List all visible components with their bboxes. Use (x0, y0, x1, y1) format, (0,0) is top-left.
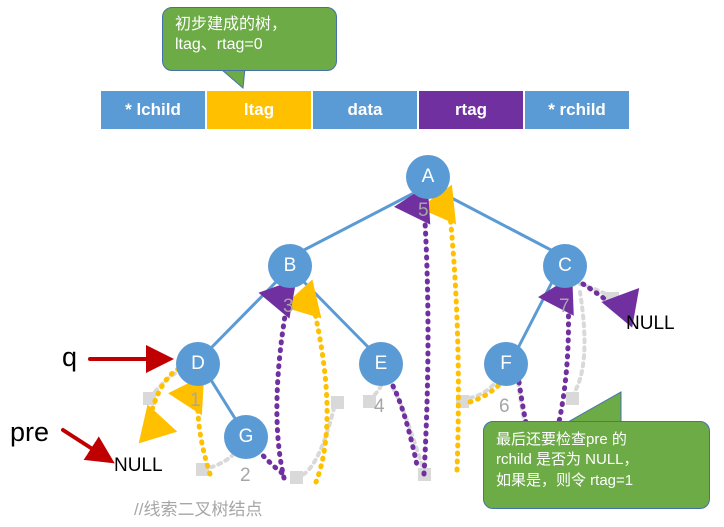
top-callout-tail (222, 68, 245, 88)
struct-cell-ltag: ltag (207, 91, 311, 129)
pre-pointer-arrow (63, 430, 108, 459)
step-number-1: 1 (190, 390, 201, 412)
callout-top: 初步建成的树， ltag、rtag=0 (162, 7, 337, 71)
tree-node-a: A (406, 155, 450, 199)
thread-g-right-to-b (277, 298, 288, 478)
step-number-6: 6 (499, 396, 510, 418)
callout-bottom-line1: 最后还要检查pre 的 (496, 430, 699, 450)
source-comment-label: //线索二叉树结点 (134, 495, 262, 520)
q-pointer-label: q (62, 342, 77, 373)
diagram-canvas: * lchild ltag data rtag * rchild 初步建成的树，… (0, 0, 724, 527)
null-label-left: NULL (114, 455, 163, 477)
callout-bottom: 最后还要检查pre 的 rchild 是否为 NULL， 如果是，则令 rtag… (483, 421, 710, 509)
callout-bottom-line2: rchild 是否为 NULL， (496, 450, 699, 470)
tree-node-g: G (224, 415, 268, 459)
tree-node-b: B (268, 244, 312, 288)
step-number-2: 2 (240, 465, 251, 487)
null-label-right: NULL (626, 313, 675, 335)
thread-e-right-to-a (424, 205, 428, 474)
thread-f-left-stub (470, 384, 500, 402)
tree-node-f: F (484, 342, 528, 386)
struct-cell-rtag: rtag (419, 91, 523, 129)
callout-bottom-line3: 如果是，则令 rtag=1 (496, 471, 699, 491)
callout-top-line2: ltag、rtag=0 (175, 35, 326, 55)
step-number-5: 5 (418, 200, 429, 222)
step-number-3: 3 (283, 296, 294, 318)
callout-top-line1: 初步建成的树， (175, 15, 326, 35)
tree-node-c: C (543, 244, 587, 288)
struct-cell-data: data (313, 91, 417, 129)
step-number-4: 4 (374, 396, 385, 418)
pre-pointer-label: pre (10, 417, 49, 448)
struct-cell-lchild: * lchild (101, 91, 205, 129)
thread-f-left-to-a (449, 205, 458, 470)
tree-node-d: D (176, 342, 220, 386)
node-struct-bar: * lchild ltag data rtag * rchild (101, 91, 629, 129)
step-number-7: 7 (559, 296, 570, 318)
struct-cell-rchild: * rchild (525, 91, 629, 129)
tree-node-e: E (359, 342, 403, 386)
